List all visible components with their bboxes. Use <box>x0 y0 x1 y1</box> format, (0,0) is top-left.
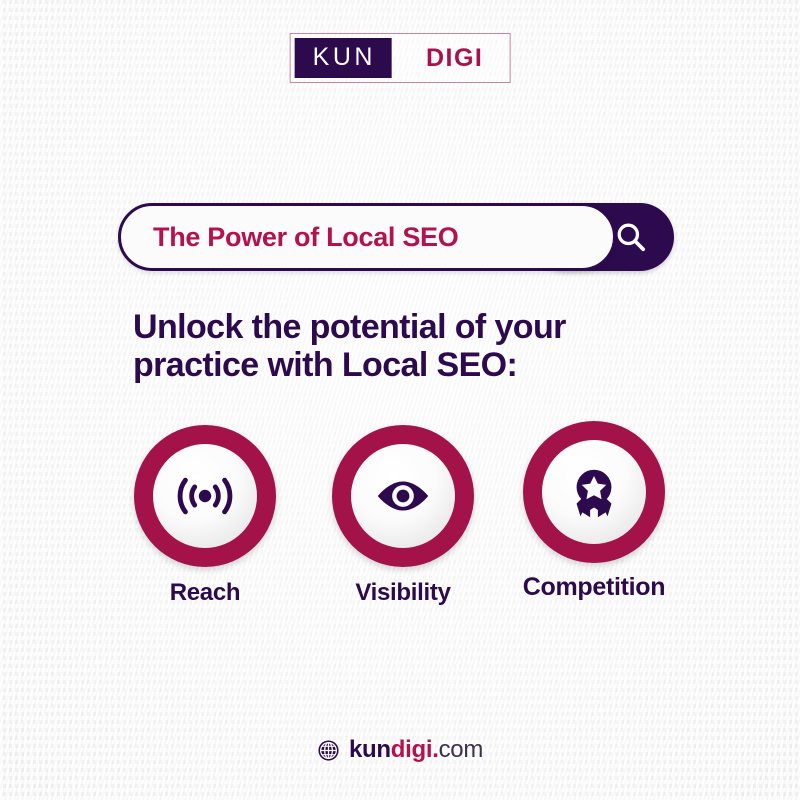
brand-logo[interactable]: KUN DIGI <box>290 33 511 83</box>
feature-list: Reach Visibility <box>0 425 800 640</box>
award-ribbon-icon <box>563 461 625 523</box>
headline-line-1: Unlock the potential of your <box>133 308 693 346</box>
feature-item-visibility[interactable]: Visibility <box>318 425 488 607</box>
feature-item-competition[interactable]: Competition <box>509 421 679 602</box>
poster-canvas: KUN DIGI The Power of Local SEO Unlock t… <box>0 0 800 800</box>
search-bar[interactable]: The Power of Local SEO <box>118 203 674 271</box>
search-query-text: The Power of Local SEO <box>121 222 458 253</box>
footer-brand-digi: digi <box>391 738 432 762</box>
footer-brand-kun: kun <box>349 738 391 762</box>
broadcast-signal-icon <box>174 465 236 527</box>
globe-icon <box>317 739 340 762</box>
logo-digi-mark: DIGI <box>392 38 503 78</box>
logo-kun-mark: KUN <box>295 38 392 78</box>
feature-label: Reach <box>120 579 290 607</box>
feature-icon-badge <box>134 425 276 567</box>
footer-tld: com <box>439 738 483 762</box>
feature-icon-plate <box>542 440 646 544</box>
eye-icon <box>372 465 434 527</box>
feature-icon-badge <box>332 425 474 567</box>
feature-item-reach[interactable]: Reach <box>120 425 290 607</box>
headline-line-2: practice with Local SEO: <box>133 346 693 384</box>
feature-label: Competition <box>509 573 679 602</box>
feature-icon-badge <box>523 421 665 563</box>
feature-icon-plate <box>153 444 257 548</box>
search-input[interactable]: The Power of Local SEO <box>118 203 616 271</box>
feature-icon-plate <box>351 444 455 548</box>
search-icon <box>614 220 648 254</box>
headline: Unlock the potential of your practice wi… <box>133 308 693 385</box>
feature-label: Visibility <box>318 579 488 607</box>
footer-website[interactable]: kun digi . com <box>0 738 800 762</box>
